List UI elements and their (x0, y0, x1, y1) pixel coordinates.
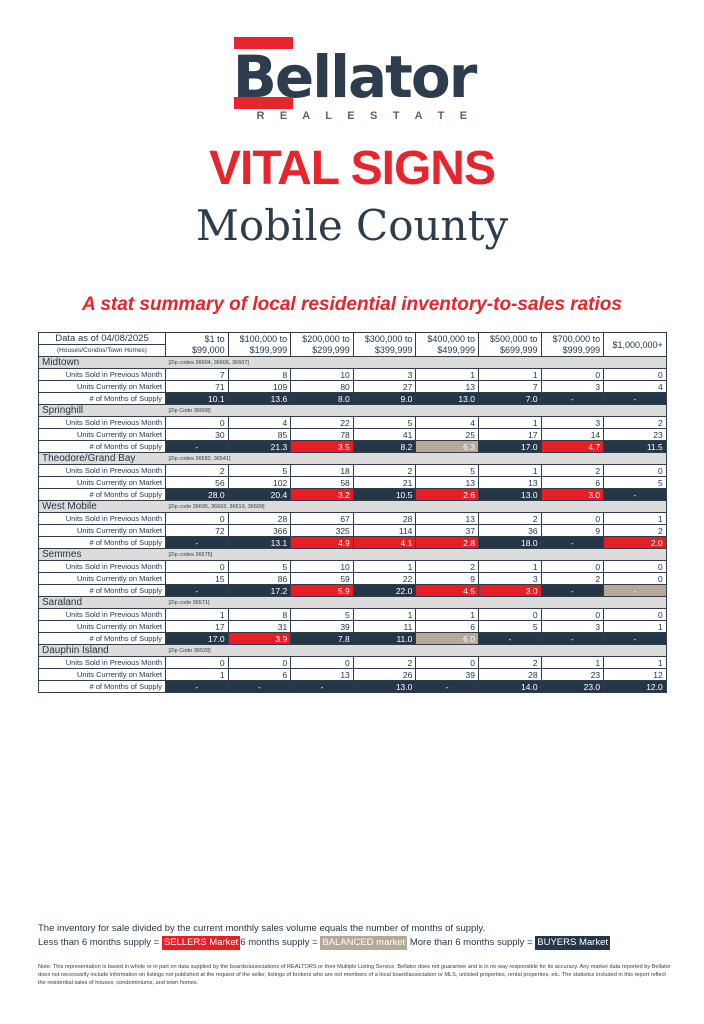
units-sold-row-west-mobile: Units Sold in Previous Month028672813201 (39, 513, 667, 525)
cell-market-midtown-6: 7 (478, 381, 541, 393)
cell-supply-springhill-5: 6.3 (416, 441, 479, 453)
cell-supply-semmes-3: 5.9 (291, 585, 354, 597)
cell-sold-springhill-6: 1 (478, 417, 541, 429)
row-label-months-of-supply: # of Months of Supply (39, 441, 166, 453)
cell-market-dauphin-island-5: 39 (416, 669, 479, 681)
cell-supply-dauphin-island-2: - (228, 681, 291, 693)
cell-sold-saraland-8: 0 (604, 609, 667, 621)
row-label-units-sold: Units Sold in Previous Month (39, 465, 166, 477)
cell-supply-saraland-4: 11.0 (353, 633, 416, 645)
units-sold-row-midtown: Units Sold in Previous Month781031100 (39, 369, 667, 381)
cell-sold-springhill-5: 4 (416, 417, 479, 429)
cell-supply-semmes-4: 22.0 (353, 585, 416, 597)
row-label-units-on-market: Units Currently on Market (39, 621, 166, 633)
cell-sold-west-mobile-6: 2 (478, 513, 541, 525)
cell-sold-midtown-1: 7 (166, 369, 229, 381)
cell-market-springhill-4: 41 (353, 429, 416, 441)
cell-market-west-mobile-5: 37 (416, 525, 479, 537)
cell-supply-semmes-7: - (541, 585, 604, 597)
area-header-row-springhill: Springhill[Zip Code 36608] (39, 405, 667, 417)
cell-sold-theodore-grand-bay-1: 2 (166, 465, 229, 477)
cell-supply-west-mobile-8: 2.0 (604, 537, 667, 549)
cell-market-dauphin-island-2: 6 (228, 669, 291, 681)
cell-sold-midtown-6: 1 (478, 369, 541, 381)
area-zipcodes-midtown: [Zip codes 36604, 36606, 36607] (166, 357, 667, 369)
cell-supply-west-mobile-1: - (166, 537, 229, 549)
column-header-1-line2: $99,000 (166, 345, 229, 357)
area-name-theodore-grand-bay: Theodore/Grand Bay (39, 453, 166, 465)
cell-market-semmes-1: 15 (166, 573, 229, 585)
cell-supply-springhill-7: 4.7 (541, 441, 604, 453)
cell-sold-west-mobile-8: 1 (604, 513, 667, 525)
units-on-market-row-west-mobile: Units Currently on Market723663251143736… (39, 525, 667, 537)
cell-supply-west-mobile-3: 4.9 (291, 537, 354, 549)
cell-supply-saraland-5: 6.0 (416, 633, 479, 645)
logo-bar-top-decoration (234, 37, 293, 49)
cell-sold-semmes-2: 5 (228, 561, 291, 573)
cell-supply-west-mobile-7: - (541, 537, 604, 549)
cell-market-saraland-3: 39 (291, 621, 354, 633)
cell-market-saraland-1: 17 (166, 621, 229, 633)
footer-legend: The inventory for sale divided by the cu… (38, 922, 678, 950)
cell-supply-dauphin-island-7: 23.0 (541, 681, 604, 693)
units-on-market-row-dauphin-island: Units Currently on Market16132639282312 (39, 669, 667, 681)
area-header-row-dauphin-island: Dauphin Island[Zip Code 36528] (39, 645, 667, 657)
row-label-months-of-supply: # of Months of Supply (39, 489, 166, 501)
cell-supply-midtown-3: 8.0 (291, 393, 354, 405)
area-zipcodes-springhill: [Zip Code 36608] (166, 405, 667, 417)
cell-market-west-mobile-3: 325 (291, 525, 354, 537)
cell-market-saraland-6: 5 (478, 621, 541, 633)
table-body: Midtown[Zip codes 36604, 36606, 36607]Un… (39, 357, 667, 693)
market-legend: Less than 6 months supply = SELLERS Mark… (38, 936, 678, 950)
row-label-months-of-supply: # of Months of Supply (39, 633, 166, 645)
cell-supply-midtown-1: 10.1 (166, 393, 229, 405)
months-of-supply-row-west-mobile: # of Months of Supply-13.14.94.12.818.0-… (39, 537, 667, 549)
cell-market-saraland-7: 3 (541, 621, 604, 633)
table-header: Data as of 04/08/2025 $1 to$100,000 to$2… (39, 333, 667, 357)
cell-sold-semmes-5: 2 (416, 561, 479, 573)
cell-sold-midtown-8: 0 (604, 369, 667, 381)
cell-supply-semmes-6: 3.0 (478, 585, 541, 597)
table-header-row-1: Data as of 04/08/2025 $1 to$100,000 to$2… (39, 333, 667, 345)
months-of-supply-row-theodore-grand-bay: # of Months of Supply28.020.43.210.52.61… (39, 489, 667, 501)
cell-sold-springhill-7: 3 (541, 417, 604, 429)
cell-sold-dauphin-island-5: 0 (416, 657, 479, 669)
cell-sold-dauphin-island-3: 0 (291, 657, 354, 669)
cell-sold-theodore-grand-bay-6: 1 (478, 465, 541, 477)
cell-supply-dauphin-island-5: - (416, 681, 479, 693)
row-label-units-on-market: Units Currently on Market (39, 429, 166, 441)
cell-market-saraland-5: 6 (416, 621, 479, 633)
row-label-units-on-market: Units Currently on Market (39, 573, 166, 585)
area-header-row-saraland: Saraland[Zip code 36571] (39, 597, 667, 609)
cell-market-theodore-grand-bay-4: 21 (353, 477, 416, 489)
cell-market-springhill-5: 25 (416, 429, 479, 441)
logo-bar-bottom-decoration (234, 97, 293, 109)
row-label-units-on-market: Units Currently on Market (39, 669, 166, 681)
row-label-units-sold: Units Sold in Previous Month (39, 561, 166, 573)
cell-sold-west-mobile-3: 67 (291, 513, 354, 525)
cell-market-midtown-5: 13 (416, 381, 479, 393)
column-header-6-line2: $699,999 (478, 345, 541, 357)
cell-market-west-mobile-1: 72 (166, 525, 229, 537)
cell-sold-saraland-2: 8 (228, 609, 291, 621)
legend-chip-buyers: BUYERS Market (535, 936, 610, 950)
cell-supply-saraland-2: 3.9 (228, 633, 291, 645)
cell-market-theodore-grand-bay-7: 6 (541, 477, 604, 489)
area-header-row-midtown: Midtown[Zip codes 36604, 36606, 36607] (39, 357, 667, 369)
cell-supply-midtown-2: 13.6 (228, 393, 291, 405)
cell-supply-springhill-6: 17.0 (478, 441, 541, 453)
page-subtitle-county: Mobile County (0, 202, 704, 250)
cell-supply-west-mobile-4: 4.1 (353, 537, 416, 549)
cell-market-semmes-3: 59 (291, 573, 354, 585)
cell-market-springhill-3: 78 (291, 429, 354, 441)
cell-supply-dauphin-island-4: 13.0 (353, 681, 416, 693)
row-label-months-of-supply: # of Months of Supply (39, 585, 166, 597)
area-name-dauphin-island: Dauphin Island (39, 645, 166, 657)
cell-supply-midtown-6: 7.0 (478, 393, 541, 405)
row-label-months-of-supply: # of Months of Supply (39, 393, 166, 405)
legend-mid-text: 6 months supply = (240, 937, 320, 948)
cell-sold-springhill-2: 4 (228, 417, 291, 429)
cell-market-west-mobile-6: 36 (478, 525, 541, 537)
row-label-units-sold: Units Sold in Previous Month (39, 609, 166, 621)
cell-supply-semmes-2: 17.2 (228, 585, 291, 597)
cell-sold-theodore-grand-bay-8: 0 (604, 465, 667, 477)
cell-supply-springhill-1: - (166, 441, 229, 453)
cell-market-midtown-8: 4 (604, 381, 667, 393)
units-sold-row-semmes: Units Sold in Previous Month051012100 (39, 561, 667, 573)
cell-sold-springhill-4: 5 (353, 417, 416, 429)
cell-market-springhill-8: 23 (604, 429, 667, 441)
column-header-2-line1: $100,000 to (228, 333, 291, 345)
cell-supply-dauphin-island-8: 12.0 (604, 681, 667, 693)
cell-supply-west-mobile-5: 2.8 (416, 537, 479, 549)
cell-market-midtown-1: 71 (166, 381, 229, 393)
cell-supply-dauphin-island-3: - (291, 681, 354, 693)
table-header-row-2: (Houses/Condos/Town Homes) $99,000$199,9… (39, 345, 667, 357)
column-header-7-line2: $999,999 (541, 345, 604, 357)
months-of-supply-row-saraland: # of Months of Supply17.03.97.811.06.0--… (39, 633, 667, 645)
column-header-8-line1: $1,000,000+ (604, 333, 667, 357)
cell-sold-springhill-8: 2 (604, 417, 667, 429)
cell-supply-theodore-grand-bay-1: 28.0 (166, 489, 229, 501)
cell-sold-semmes-4: 1 (353, 561, 416, 573)
cell-sold-theodore-grand-bay-7: 2 (541, 465, 604, 477)
cell-sold-midtown-2: 8 (228, 369, 291, 381)
cell-supply-theodore-grand-bay-6: 13.0 (478, 489, 541, 501)
cell-market-semmes-8: 0 (604, 573, 667, 585)
months-of-supply-row-springhill: # of Months of Supply-21.33.58.26.317.04… (39, 441, 667, 453)
cell-sold-dauphin-island-7: 1 (541, 657, 604, 669)
cell-market-dauphin-island-4: 26 (353, 669, 416, 681)
cell-market-dauphin-island-6: 28 (478, 669, 541, 681)
cell-supply-theodore-grand-bay-4: 10.5 (353, 489, 416, 501)
cell-market-springhill-1: 30 (166, 429, 229, 441)
area-zipcodes-saraland: [Zip code 36571] (166, 597, 667, 609)
cell-market-midtown-2: 109 (228, 381, 291, 393)
row-label-units-sold: Units Sold in Previous Month (39, 369, 166, 381)
cell-supply-midtown-5: 13.0 (416, 393, 479, 405)
cell-sold-semmes-8: 0 (604, 561, 667, 573)
cell-market-west-mobile-7: 9 (541, 525, 604, 537)
cell-sold-midtown-4: 3 (353, 369, 416, 381)
cell-market-saraland-8: 1 (604, 621, 667, 633)
column-header-6-line1: $500,000 to (478, 333, 541, 345)
cell-market-theodore-grand-bay-1: 56 (166, 477, 229, 489)
cell-supply-dauphin-island-6: 14.0 (478, 681, 541, 693)
units-sold-row-saraland: Units Sold in Previous Month18511000 (39, 609, 667, 621)
cell-supply-saraland-8: - (604, 633, 667, 645)
cell-market-theodore-grand-bay-6: 13 (478, 477, 541, 489)
area-name-springhill: Springhill (39, 405, 166, 417)
units-on-market-row-springhill: Units Currently on Market308578412517142… (39, 429, 667, 441)
units-on-market-row-semmes: Units Currently on Market158659229320 (39, 573, 667, 585)
cell-sold-saraland-6: 0 (478, 609, 541, 621)
cell-sold-dauphin-island-8: 1 (604, 657, 667, 669)
units-sold-row-springhill: Units Sold in Previous Month042254132 (39, 417, 667, 429)
months-of-supply-row-dauphin-island: # of Months of Supply---13.0-14.023.012.… (39, 681, 667, 693)
cell-supply-semmes-1: - (166, 585, 229, 597)
cell-supply-dauphin-island-1: - (166, 681, 229, 693)
legend-chip-sellers: SELLERS Market (162, 936, 240, 950)
cell-supply-west-mobile-6: 18.0 (478, 537, 541, 549)
cell-sold-semmes-1: 0 (166, 561, 229, 573)
cell-sold-saraland-3: 5 (291, 609, 354, 621)
cell-sold-saraland-7: 0 (541, 609, 604, 621)
months-of-supply-row-midtown: # of Months of Supply10.113.68.09.013.07… (39, 393, 667, 405)
cell-market-theodore-grand-bay-8: 5 (604, 477, 667, 489)
cell-sold-midtown-7: 0 (541, 369, 604, 381)
cell-sold-springhill-3: 22 (291, 417, 354, 429)
cell-sold-semmes-6: 1 (478, 561, 541, 573)
cell-market-midtown-4: 27 (353, 381, 416, 393)
brand-logo: Bellator R E A L E S T A T E (0, 34, 704, 124)
column-header-1-line1: $1 to (166, 333, 229, 345)
cell-sold-dauphin-island-2: 0 (228, 657, 291, 669)
area-header-row-west-mobile: West Mobile[Zip code 36695, 36693, 36619… (39, 501, 667, 513)
cell-market-theodore-grand-bay-5: 13 (416, 477, 479, 489)
cell-market-theodore-grand-bay-3: 58 (291, 477, 354, 489)
cell-market-semmes-4: 22 (353, 573, 416, 585)
row-label-units-on-market: Units Currently on Market (39, 525, 166, 537)
cell-sold-theodore-grand-bay-2: 5 (228, 465, 291, 477)
cell-sold-saraland-5: 1 (416, 609, 479, 621)
cell-supply-saraland-3: 7.8 (291, 633, 354, 645)
cell-market-midtown-7: 3 (541, 381, 604, 393)
cell-sold-springhill-1: 0 (166, 417, 229, 429)
cell-market-west-mobile-4: 114 (353, 525, 416, 537)
column-header-2-line2: $199,999 (228, 345, 291, 357)
column-header-4-line1: $300,000 to (353, 333, 416, 345)
row-label-months-of-supply: # of Months of Supply (39, 681, 166, 693)
cell-sold-midtown-5: 1 (416, 369, 479, 381)
area-header-row-semmes: Semmes[Zip codes 36575] (39, 549, 667, 561)
cell-sold-semmes-7: 0 (541, 561, 604, 573)
units-sold-row-theodore-grand-bay: Units Sold in Previous Month251825120 (39, 465, 667, 477)
cell-sold-west-mobile-2: 28 (228, 513, 291, 525)
area-header-row-theodore-grand-bay: Theodore/Grand Bay[Zip codes 36582, 3654… (39, 453, 667, 465)
cell-market-semmes-5: 9 (416, 573, 479, 585)
cell-sold-theodore-grand-bay-4: 2 (353, 465, 416, 477)
vital-signs-table: Data as of 04/08/2025 $1 to$100,000 to$2… (38, 332, 667, 693)
area-zipcodes-dauphin-island: [Zip Code 36528] (166, 645, 667, 657)
legend-chip-balanced: BALANCED market (320, 936, 407, 950)
page-tagline: A stat summary of local residential inve… (0, 294, 704, 316)
table-corner-title: Data as of 04/08/2025 (39, 333, 166, 345)
area-zipcodes-theodore-grand-bay: [Zip codes 36582, 36541] (166, 453, 667, 465)
legal-disclaimer: Note: This representation is based in wh… (38, 963, 671, 988)
cell-supply-saraland-7: - (541, 633, 604, 645)
cell-supply-theodore-grand-bay-3: 3.2 (291, 489, 354, 501)
table-corner-subtitle: (Houses/Condos/Town Homes) (39, 345, 166, 357)
cell-sold-theodore-grand-bay-3: 18 (291, 465, 354, 477)
cell-sold-west-mobile-4: 28 (353, 513, 416, 525)
cell-supply-midtown-4: 9.0 (353, 393, 416, 405)
cell-supply-theodore-grand-bay-7: 3.0 (541, 489, 604, 501)
legend-more-text: More than 6 months supply = (407, 937, 535, 948)
column-header-4-line2: $399,999 (353, 345, 416, 357)
cell-market-saraland-2: 31 (228, 621, 291, 633)
cell-supply-saraland-6: - (478, 633, 541, 645)
row-label-units-sold: Units Sold in Previous Month (39, 513, 166, 525)
cell-market-springhill-6: 17 (478, 429, 541, 441)
cell-supply-springhill-2: 21.3 (228, 441, 291, 453)
cell-market-dauphin-island-7: 23 (541, 669, 604, 681)
cell-market-springhill-7: 14 (541, 429, 604, 441)
column-header-3-line2: $299,999 (291, 345, 354, 357)
cell-sold-midtown-3: 10 (291, 369, 354, 381)
row-label-months-of-supply: # of Months of Supply (39, 537, 166, 549)
cell-market-semmes-2: 86 (228, 573, 291, 585)
cell-sold-dauphin-island-6: 2 (478, 657, 541, 669)
column-header-7-line1: $700,000 to (541, 333, 604, 345)
cell-market-dauphin-island-3: 13 (291, 669, 354, 681)
cell-supply-theodore-grand-bay-5: 2.6 (416, 489, 479, 501)
cell-supply-west-mobile-2: 13.1 (228, 537, 291, 549)
column-header-5-line1: $400,000 to (416, 333, 479, 345)
cell-sold-west-mobile-5: 13 (416, 513, 479, 525)
area-name-semmes: Semmes (39, 549, 166, 561)
cell-market-springhill-2: 85 (228, 429, 291, 441)
area-name-west-mobile: West Mobile (39, 501, 166, 513)
cell-supply-springhill-4: 8.2 (353, 441, 416, 453)
cell-supply-saraland-1: 17.0 (166, 633, 229, 645)
units-on-market-row-saraland: Units Currently on Market173139116531 (39, 621, 667, 633)
cell-market-theodore-grand-bay-2: 102 (228, 477, 291, 489)
row-label-units-on-market: Units Currently on Market (39, 381, 166, 393)
cell-sold-west-mobile-7: 0 (541, 513, 604, 525)
cell-sold-saraland-1: 1 (166, 609, 229, 621)
cell-supply-midtown-8: - (604, 393, 667, 405)
cell-market-dauphin-island-1: 1 (166, 669, 229, 681)
cell-sold-dauphin-island-1: 0 (166, 657, 229, 669)
units-on-market-row-theodore-grand-bay: Units Currently on Market561025821131365 (39, 477, 667, 489)
cell-supply-theodore-grand-bay-8: - (604, 489, 667, 501)
cell-supply-semmes-5: 4.5 (416, 585, 479, 597)
cell-supply-springhill-3: 3.5 (291, 441, 354, 453)
supply-definition: The inventory for sale divided by the cu… (38, 922, 678, 936)
cell-market-dauphin-island-8: 12 (604, 669, 667, 681)
cell-sold-dauphin-island-4: 2 (353, 657, 416, 669)
cell-sold-semmes-3: 10 (291, 561, 354, 573)
row-label-units-sold: Units Sold in Previous Month (39, 657, 166, 669)
cell-sold-theodore-grand-bay-5: 5 (416, 465, 479, 477)
cell-market-west-mobile-8: 2 (604, 525, 667, 537)
months-of-supply-row-semmes: # of Months of Supply-17.25.922.04.53.0-… (39, 585, 667, 597)
area-name-saraland: Saraland (39, 597, 166, 609)
cell-market-midtown-3: 80 (291, 381, 354, 393)
cell-market-west-mobile-2: 366 (228, 525, 291, 537)
area-zipcodes-semmes: [Zip codes 36575] (166, 549, 667, 561)
cell-supply-semmes-8: - (604, 585, 667, 597)
area-zipcodes-west-mobile: [Zip code 36695, 36693, 36619, 36609] (166, 501, 667, 513)
row-label-units-on-market: Units Currently on Market (39, 477, 166, 489)
cell-sold-saraland-4: 1 (353, 609, 416, 621)
area-name-midtown: Midtown (39, 357, 166, 369)
cell-supply-springhill-8: 11.5 (604, 441, 667, 453)
row-label-units-sold: Units Sold in Previous Month (39, 417, 166, 429)
cell-supply-midtown-7: - (541, 393, 604, 405)
cell-market-semmes-7: 2 (541, 573, 604, 585)
cell-sold-west-mobile-1: 0 (166, 513, 229, 525)
page-title: VITAL SIGNS (0, 144, 704, 194)
legend-prefix-text: Less than 6 months supply = (38, 937, 162, 948)
column-header-3-line1: $200,000 to (291, 333, 354, 345)
column-header-5-line2: $499,999 (416, 345, 479, 357)
units-sold-row-dauphin-island: Units Sold in Previous Month00020211 (39, 657, 667, 669)
cell-market-semmes-6: 3 (478, 573, 541, 585)
cell-supply-theodore-grand-bay-2: 20.4 (228, 489, 291, 501)
cell-market-saraland-4: 11 (353, 621, 416, 633)
units-on-market-row-midtown: Units Currently on Market71109802713734 (39, 381, 667, 393)
